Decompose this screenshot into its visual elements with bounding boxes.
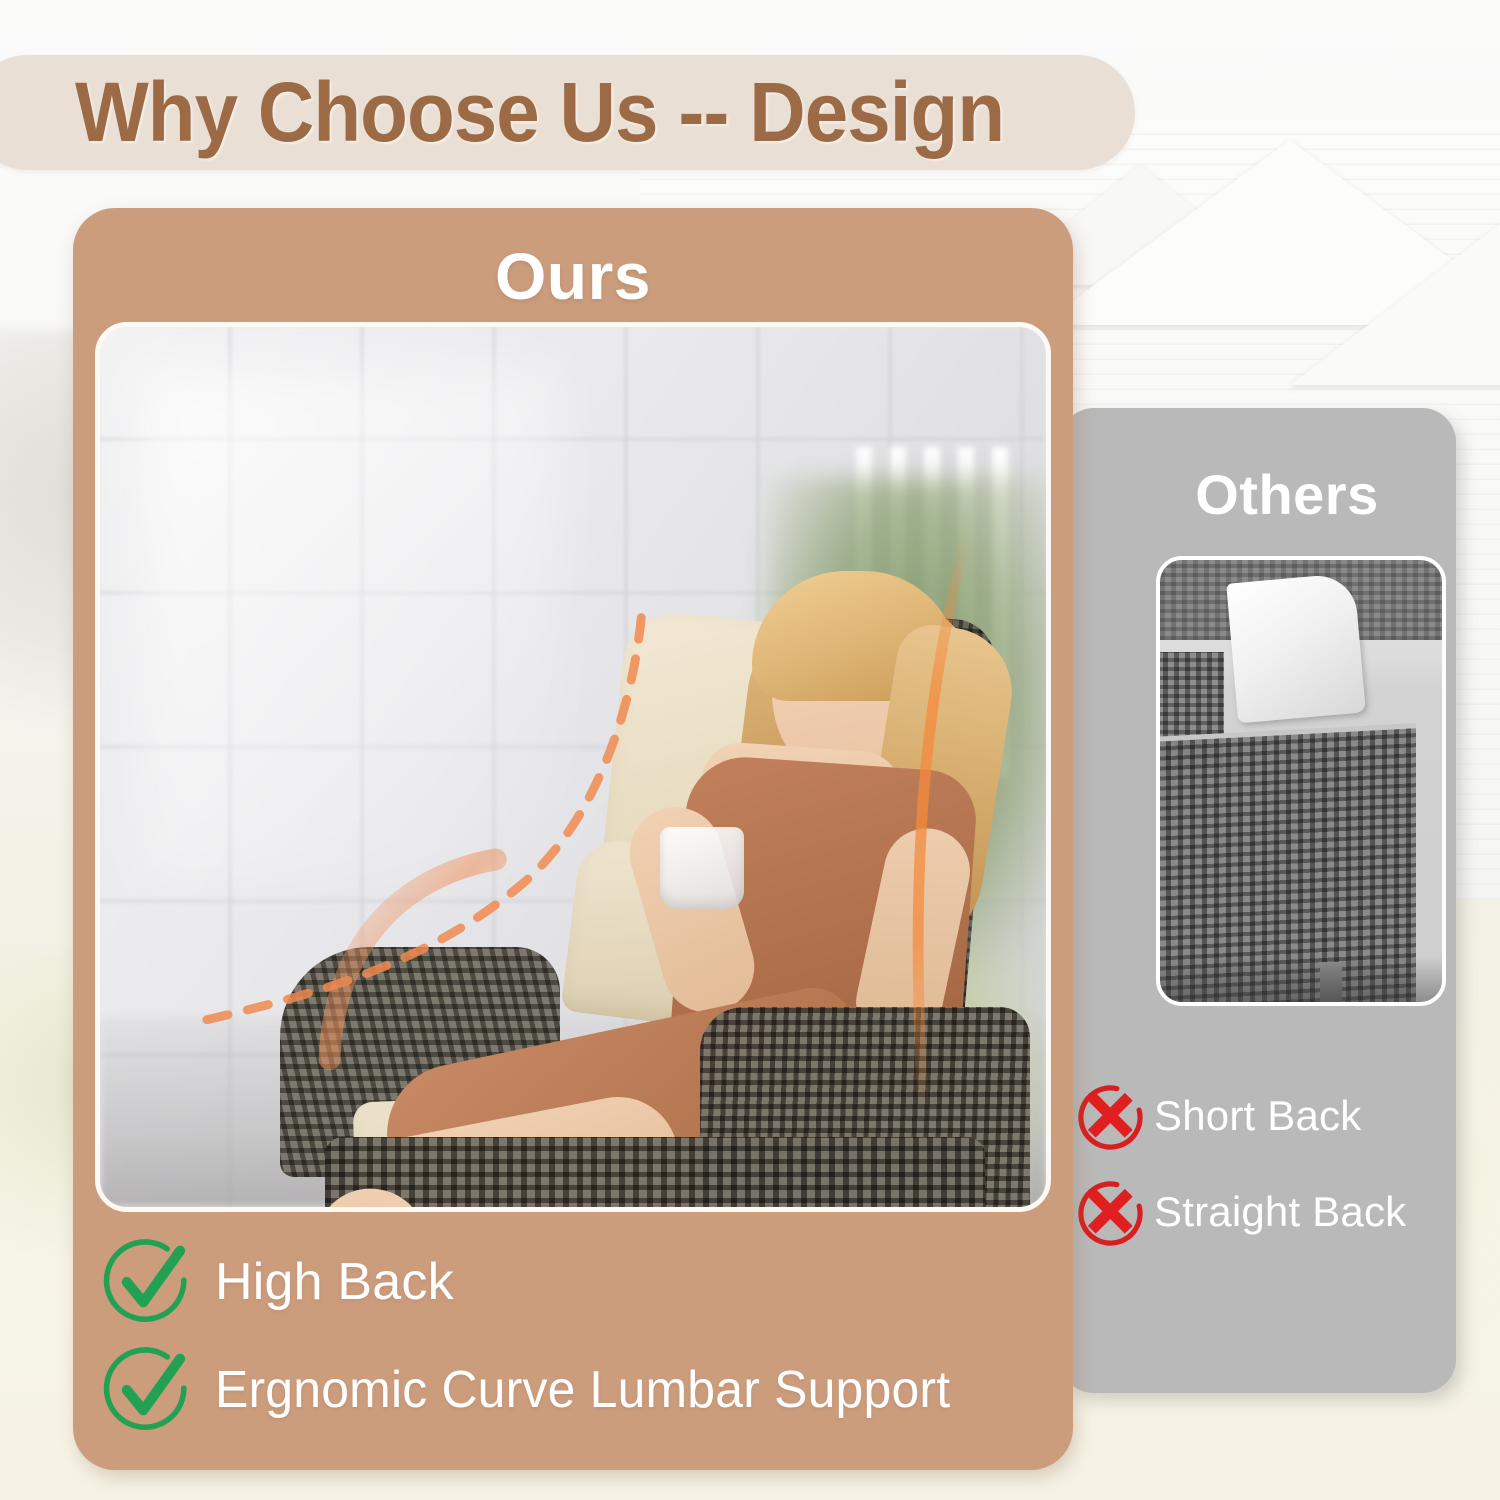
others-heading: Others	[1060, 462, 1456, 527]
check-circle-icon	[101, 1344, 193, 1436]
others-drawback-list: Short Back Straight Back	[1060, 1068, 1456, 1260]
drawback-label: Short Back	[1154, 1092, 1361, 1140]
page-title: Why Choose Us -- Design	[75, 64, 1004, 161]
others-photo-content	[1160, 560, 1442, 1002]
cross-circle-icon	[1074, 1079, 1148, 1153]
ours-panel: Ours	[73, 208, 1073, 1470]
others-panel: Others Short Back	[1060, 408, 1456, 1393]
chair-wicker-body	[325, 1137, 985, 1212]
check-circle-icon	[101, 1236, 193, 1328]
drawback-label: Straight Back	[1154, 1188, 1406, 1236]
others-product-photo	[1156, 556, 1446, 1006]
feature-label: High Back	[215, 1252, 454, 1312]
others-photo-white-cushion	[1226, 573, 1366, 724]
others-photo-floor-shadow	[1160, 956, 1442, 1002]
ours-feature-list: High Back Ergnomic Curve Lumbar Support	[101, 1228, 1101, 1444]
infographic-page: Why Choose Us -- Design Others	[0, 0, 1500, 1500]
model-coffee-cup	[660, 827, 744, 909]
title-banner: Why Choose Us -- Design	[0, 55, 1135, 170]
list-item: High Back	[101, 1228, 1101, 1336]
ours-product-photo	[95, 322, 1051, 1212]
feature-label: Ergnomic Curve Lumbar Support	[215, 1360, 950, 1420]
ours-heading: Ours	[73, 238, 1073, 314]
hero-photo-sunlight	[140, 367, 560, 887]
list-item: Short Back	[1060, 1068, 1456, 1164]
background-roof-gable-right	[1290, 155, 1500, 385]
list-item: Straight Back	[1060, 1164, 1456, 1260]
list-item: Ergnomic Curve Lumbar Support	[101, 1336, 1101, 1444]
